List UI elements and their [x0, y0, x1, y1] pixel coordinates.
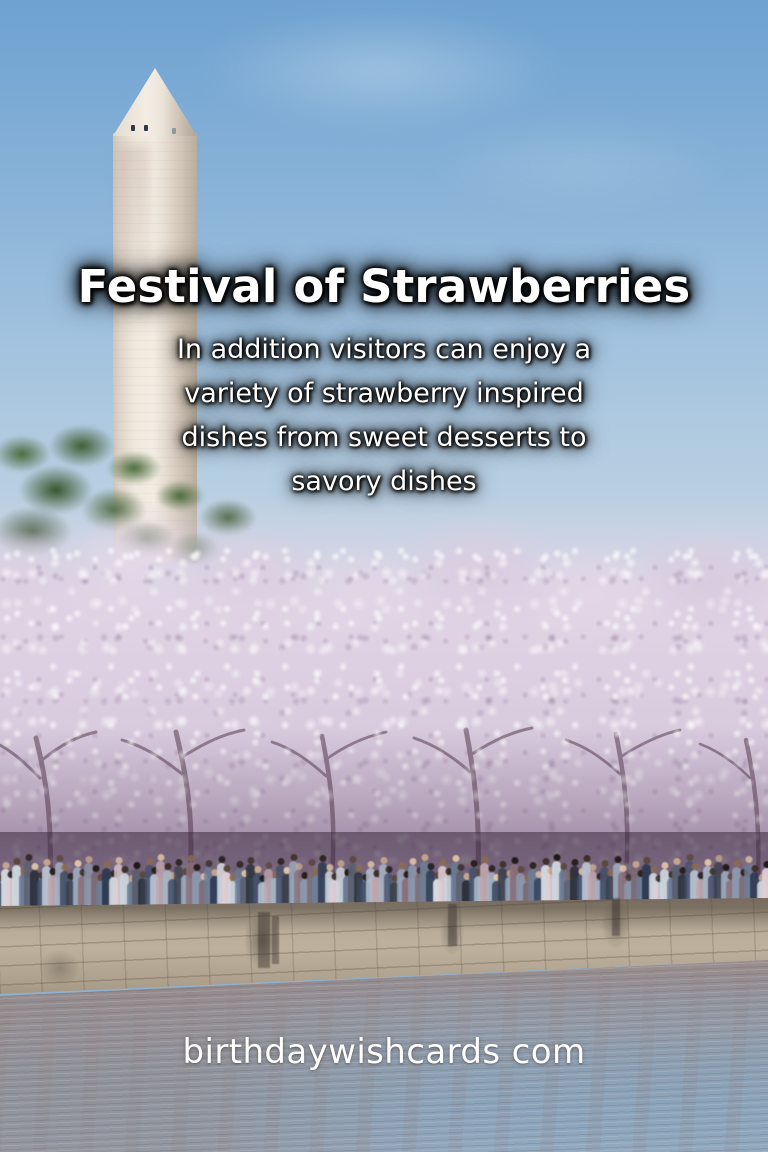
card-text-overlay: Festival of Strawberries In addition vis… — [0, 262, 768, 503]
monument-window — [131, 125, 135, 131]
seawall-drip — [448, 904, 457, 946]
site-watermark: birthdaywishcards com — [0, 1032, 768, 1072]
monument-window — [172, 128, 176, 134]
seawall-drip — [272, 916, 279, 964]
monument-pyramidion — [113, 68, 197, 136]
card-title: Festival of Strawberries — [0, 262, 768, 312]
greeting-card-image: Festival of Strawberries In addition vis… — [0, 0, 768, 1152]
monument-window — [144, 125, 148, 131]
seawall-drip — [612, 898, 620, 936]
card-subtitle: In addition visitors can enjoy a variety… — [0, 328, 768, 503]
cherry-blossom-canopy — [0, 498, 768, 878]
seawall-drip — [258, 912, 270, 968]
